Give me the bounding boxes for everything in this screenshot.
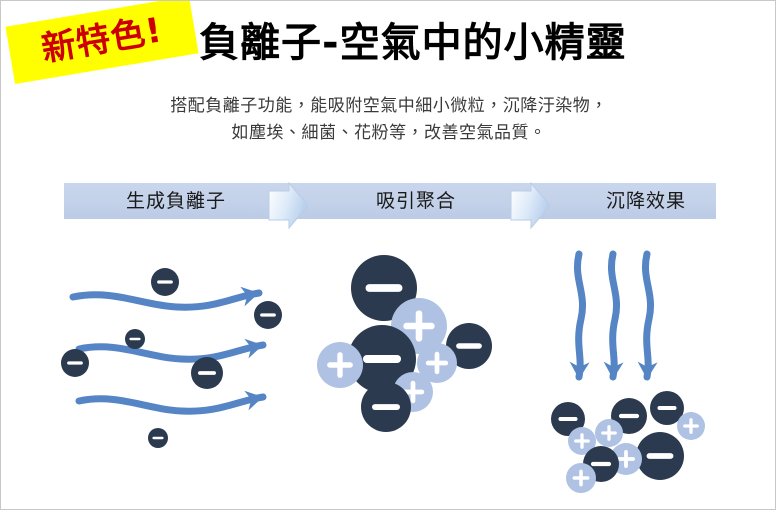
positive-ion-icon-vertical-bar: [580, 433, 583, 449]
generate-negative-ions-panel: [61, 268, 282, 448]
negative-ion-icon-horizontal-bar: [558, 417, 577, 421]
negative-ion-icon-horizontal-bar: [591, 462, 611, 466]
negative-ion-icon-horizontal-bar: [129, 338, 140, 340]
new-feature-badge: 新特色!: [5, 0, 198, 84]
subtitle-line-2: 如塵埃、細菌、花粉等，改善空氣品質。: [1, 120, 776, 147]
negative-ion-icon: [191, 357, 223, 389]
new-feature-badge-label: 新特色!: [39, 13, 164, 67]
negative-ion-icon: [361, 382, 411, 432]
step-label-settle: 沉降效果: [576, 183, 716, 219]
negative-ion-icon-horizontal-bar: [366, 284, 403, 292]
right-chevron-arrow-icon: [267, 181, 310, 230]
positive-ion-icon-vertical-bar: [689, 418, 692, 434]
positive-ion-icon-vertical-bar: [337, 352, 342, 378]
ion-illustration: [1, 229, 776, 510]
stream-arrow-shaft: [577, 254, 582, 377]
negative-ion-icon-horizontal-bar: [657, 406, 676, 410]
right-chevron-arrow-icon: [509, 181, 552, 230]
page-title: 負離子-空氣中的小精靈: [199, 18, 627, 68]
step-label-attract: 吸引聚合: [336, 183, 496, 219]
positive-ion-icon: [566, 463, 596, 493]
negative-ion-icon-horizontal-bar: [363, 355, 401, 363]
subtitle-description: 搭配負離子功能，能吸附空氣中細小微粒，沉降汙染物， 如塵埃、細菌、花粉等，改善空…: [1, 93, 776, 147]
negative-ion-icon: [636, 432, 684, 480]
positive-ion-icon: [595, 419, 623, 447]
stream-arrow-shaft: [79, 345, 263, 359]
positive-ion-icon: [317, 342, 363, 388]
stream-arrow-shaft: [645, 254, 650, 377]
slide-canvas: 新特色! 負離子-空氣中的小精靈 搭配負離子功能，能吸附空氣中細小微粒，沉降汙染…: [0, 0, 776, 510]
positive-ion-icon-vertical-bar: [607, 425, 610, 441]
negative-ion-icon: [125, 329, 145, 349]
step-label-generate: 生成負離子: [91, 183, 261, 219]
negative-ion-icon-horizontal-bar: [260, 313, 276, 316]
negative-ion-icon: [148, 428, 168, 448]
negative-ion-icon: [151, 268, 179, 296]
negative-ion-icon-horizontal-bar: [647, 453, 674, 459]
subtitle-line-1: 搭配負離子功能，能吸附空氣中細小微粒，沉降汙染物，: [1, 93, 776, 120]
negative-ion-icon-horizontal-bar: [198, 371, 216, 375]
positive-ion-icon-vertical-bar: [416, 310, 423, 341]
negative-ion-icon-horizontal-bar: [152, 437, 163, 439]
stream-arrow-shaft: [611, 254, 616, 377]
positive-ion-icon: [677, 412, 705, 440]
negative-ion-icon-horizontal-bar: [456, 343, 482, 348]
positive-ion-icon-vertical-bar: [579, 470, 583, 487]
attract-and-cluster-panel: [317, 255, 492, 432]
negative-ion-icon-horizontal-bar: [619, 414, 639, 418]
negative-ion-icon: [254, 301, 282, 329]
negative-ion-icon-horizontal-bar: [372, 404, 400, 410]
negative-ion-icon-horizontal-bar: [157, 280, 173, 283]
negative-ion-icon: [61, 349, 89, 377]
positive-ion-icon-vertical-bar: [435, 352, 440, 374]
positive-ion-icon-vertical-bar: [411, 381, 416, 403]
positive-ion-icon-vertical-bar: [624, 450, 628, 468]
negative-ion-icon-horizontal-bar: [67, 361, 83, 364]
stream-arrow-shaft: [79, 397, 263, 411]
settling-effect-panel: [551, 254, 705, 493]
